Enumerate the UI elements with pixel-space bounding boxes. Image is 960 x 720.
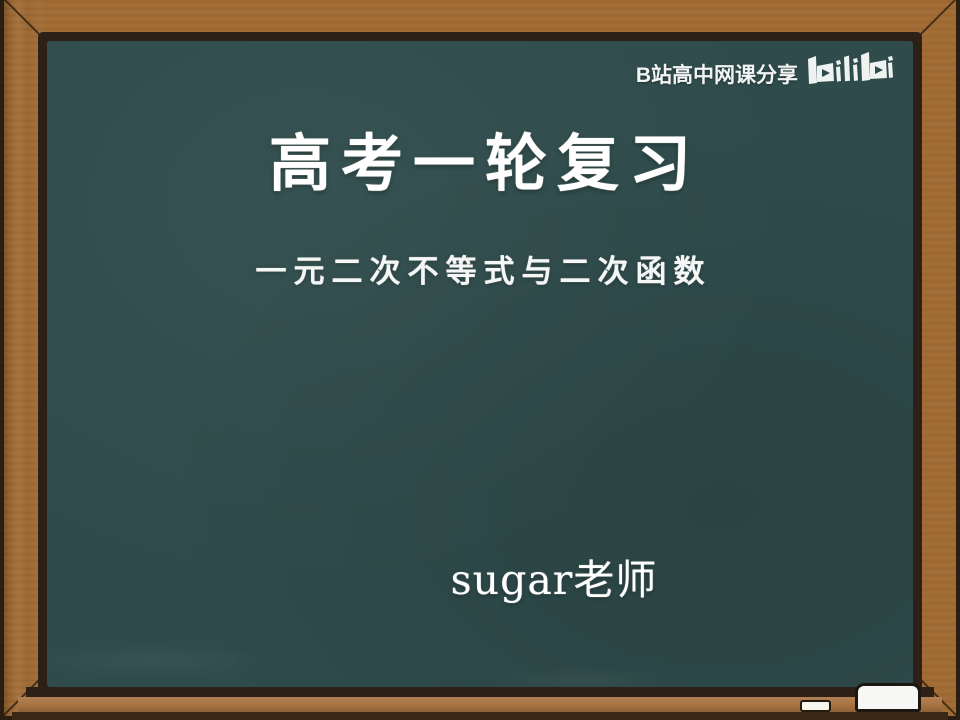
- chalkboard-slide: B站高中网课分享: [0, 0, 960, 720]
- watermark: B站高中网课分享: [636, 50, 895, 97]
- instructor-name: sugar老师: [451, 556, 658, 604]
- chalk-stick: [800, 700, 831, 712]
- eraser: [855, 683, 921, 712]
- bilibili-logo: [807, 50, 895, 97]
- main-title: 高考一轮复习: [47, 129, 913, 198]
- headline-block: 高考一轮复习 一元二次不等式与二次函数: [47, 129, 913, 291]
- instructor-signature: sugar老师: [47, 546, 913, 606]
- ledge-underline: [12, 712, 948, 720]
- watermark-channel-text: B站高中网课分享: [636, 59, 798, 89]
- chalkboard-surface: B站高中网课分享: [47, 41, 913, 687]
- sub-title: 一元二次不等式与二次函数: [47, 198, 913, 291]
